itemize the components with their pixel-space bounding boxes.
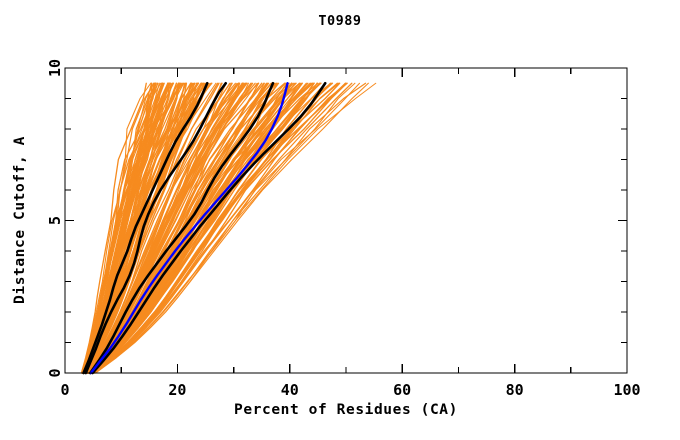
x-tick-label: 60 — [393, 381, 411, 399]
x-tick-label: 40 — [281, 381, 299, 399]
x-axis-title: Percent of Residues (CA) — [234, 402, 458, 418]
y-tick-label: 10 — [46, 59, 64, 77]
y-tick-label: 0 — [46, 368, 64, 377]
y-tick-label: 5 — [46, 216, 64, 225]
accuracy-plot: T0989 0204060801000510 Percent of Residu… — [0, 0, 680, 440]
x-tick-label: 0 — [60, 381, 69, 399]
plot-background — [0, 0, 680, 440]
x-tick-label: 20 — [168, 381, 186, 399]
y-axis-title: Distance Cutoff, A — [12, 136, 28, 304]
chart-title: T0989 — [318, 13, 361, 29]
chart-page: T0989 0204060801000510 Percent of Residu… — [0, 0, 680, 440]
x-tick-label: 80 — [506, 381, 524, 399]
x-tick-label: 100 — [613, 381, 640, 399]
